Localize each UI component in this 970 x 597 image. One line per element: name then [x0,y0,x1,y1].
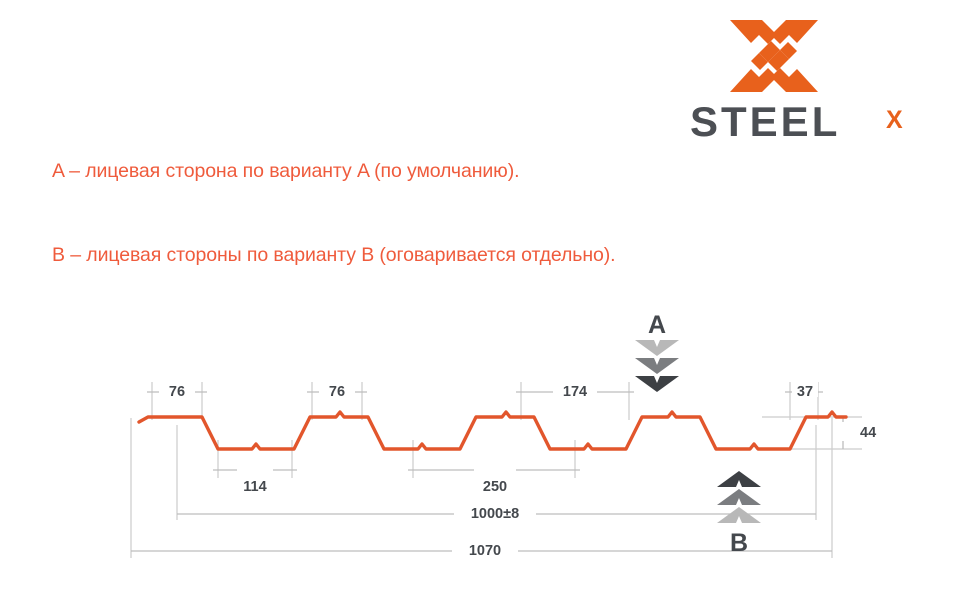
dim-crest-width-2: 76 [329,384,345,400]
dim-effective-width: 1000±8 [471,506,519,522]
trapezoidal-profile-line [139,412,846,449]
side-marker-b-label: B [730,529,748,557]
chevron-down-icon [635,340,679,392]
dim-rib-spacing: 174 [563,384,587,400]
dim-crest-width-1: 76 [169,384,185,400]
chevron-up-icon [717,471,761,523]
dim-height: 44 [860,425,876,441]
dim-total-width: 1070 [469,543,501,559]
dim-edge-width: 37 [797,384,813,400]
profile-cross-section-drawing: 76 76 174 37 114 250 44 1000±8 1070 A B [0,0,970,597]
side-marker-a-label: A [648,311,666,339]
dim-valley-width: 114 [243,479,266,495]
side-marker-a: A [635,311,679,392]
dimension-label-masks [159,380,861,560]
dim-pitch: 250 [483,479,507,495]
